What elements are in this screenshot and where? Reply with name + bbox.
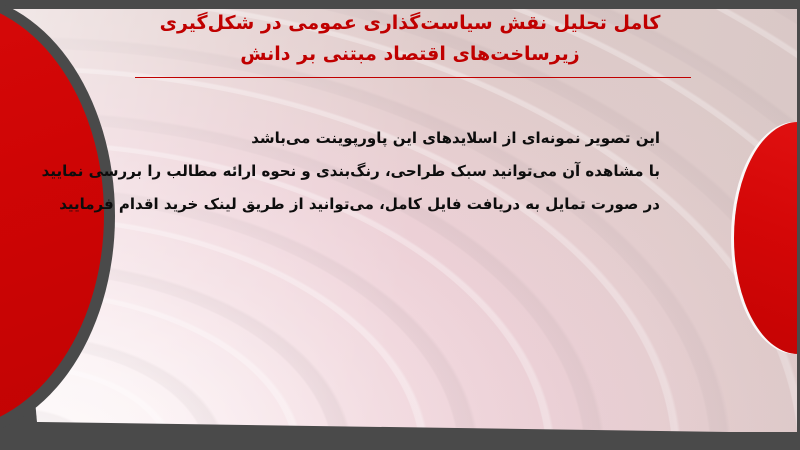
body-line-2: با مشاهده آن می‌توانید سبک طراحی، رنگ‌بن…	[140, 155, 660, 188]
background-sheen	[0, 9, 800, 433]
title-line-2: زیرساخت‌های اقتصاد مبتنی بر دانش	[120, 39, 700, 70]
background-arc-bands	[0, 9, 800, 433]
presentation-slide: کامل تحلیل نقش سیاست‌گذاری عمومی در شکل‌…	[0, 0, 800, 450]
title-line-1: کامل تحلیل نقش سیاست‌گذاری عمومی در شکل‌…	[120, 8, 700, 39]
body-line-1: این تصویر نمونه‌ای از اسلایدهای این پاور…	[140, 122, 660, 155]
slide-body-text: این تصویر نمونه‌ای از اسلایدهای این پاور…	[140, 122, 660, 221]
slide-canvas	[0, 9, 800, 433]
title-underline	[135, 77, 691, 78]
body-line-3: در صورت تمایل به دریافت فایل کامل، می‌تو…	[140, 188, 660, 221]
slide-title: کامل تحلیل نقش سیاست‌گذاری عمومی در شکل‌…	[120, 8, 700, 70]
